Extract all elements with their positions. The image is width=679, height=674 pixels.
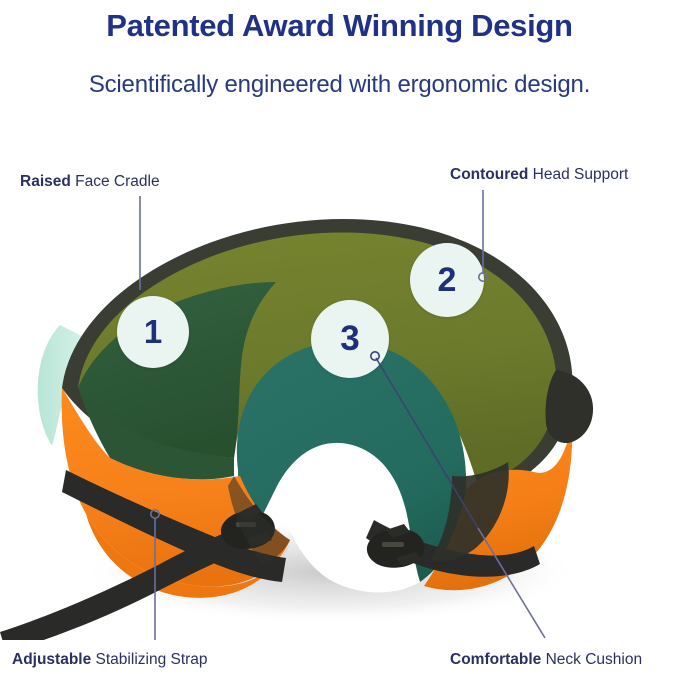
callout-rest: Neck Cushion: [541, 651, 642, 668]
callout-label-raised-face-cradle: Raised Face Cradle: [20, 172, 160, 192]
callout-rest: Stabilizing Strap: [91, 651, 207, 668]
page-title: Patented Award Winning Design: [0, 4, 679, 48]
callout-label-adjustable-stabilizing-strap: Adjustable Stabilizing Strap: [12, 650, 208, 670]
callout-label-contoured-head-support: Contoured Head Support: [450, 165, 628, 185]
callout-emphasis: Adjustable: [12, 651, 91, 668]
badge-3[interactable]: 3: [311, 300, 389, 378]
right-side-black-nub: [545, 370, 593, 443]
product-infographic: Patented Award Winning Design Scientific…: [0, 0, 679, 674]
neck-pillow-illustration: [0, 120, 679, 640]
callout-emphasis: Comfortable: [450, 651, 541, 668]
page-subtitle: Scientifically engineered with ergonomic…: [0, 68, 679, 102]
badge-2[interactable]: 2: [410, 243, 484, 317]
callout-label-comfortable-neck-cushion: Comfortable Neck Cushion: [450, 650, 642, 670]
callout-emphasis: Contoured: [450, 166, 528, 183]
badge-1[interactable]: 1: [117, 296, 189, 368]
callout-emphasis: Raised: [20, 173, 71, 190]
callout-rest: Head Support: [528, 166, 628, 183]
product-image: [0, 120, 679, 640]
callout-rest: Face Cradle: [71, 173, 160, 190]
